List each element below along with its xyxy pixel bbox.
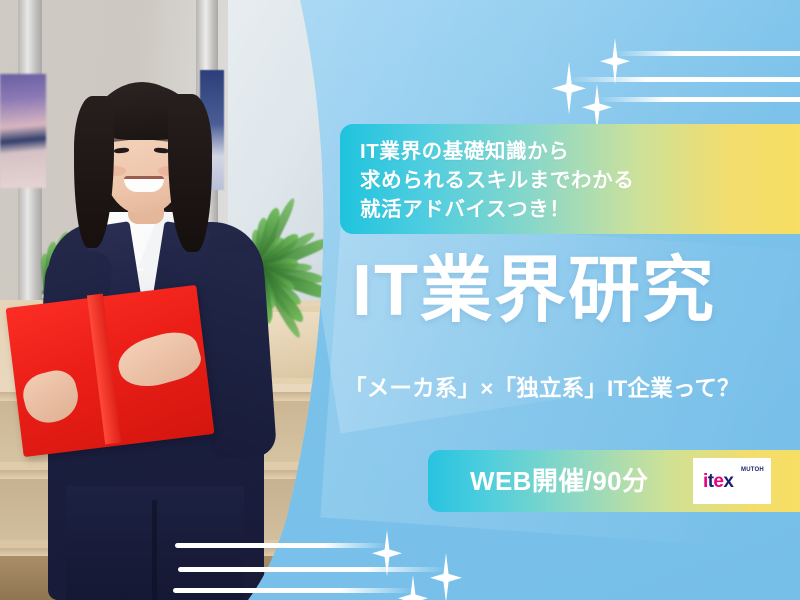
subtitle: 「メーカ系」×「独立系」IT企業って？ bbox=[344, 374, 800, 404]
lead-copy-box: IT業界の基礎知識から 求められるスキルまでわかる 就活アドバイスつき！ bbox=[340, 124, 800, 234]
main-title: IT業界研究 bbox=[352, 252, 800, 330]
itex-wordmark: itex bbox=[703, 472, 733, 492]
it-industry-research-banner: IT業界の基礎知識から 求められるスキルまでわかる 就活アドバイスつき！ IT業… bbox=[0, 0, 800, 600]
logo-letter-x: x bbox=[723, 471, 733, 492]
event-format-text: WEB開催/90分 bbox=[470, 466, 648, 496]
logo-plate: itex MUTOH bbox=[693, 458, 771, 504]
event-format-badge: WEB開催/90分 itex MUTOH bbox=[428, 450, 800, 512]
wall-poster-left bbox=[0, 74, 46, 188]
mutoh-wordmark: MUTOH bbox=[741, 467, 764, 473]
presenter-trouser-seam bbox=[152, 500, 157, 600]
lead-copy-text: IT業界の基礎知識から 求められるスキルまでわかる 就活アドバイスつき！ bbox=[360, 137, 790, 224]
presenter-smile bbox=[124, 176, 164, 192]
logo-letter-e: e bbox=[713, 471, 723, 492]
